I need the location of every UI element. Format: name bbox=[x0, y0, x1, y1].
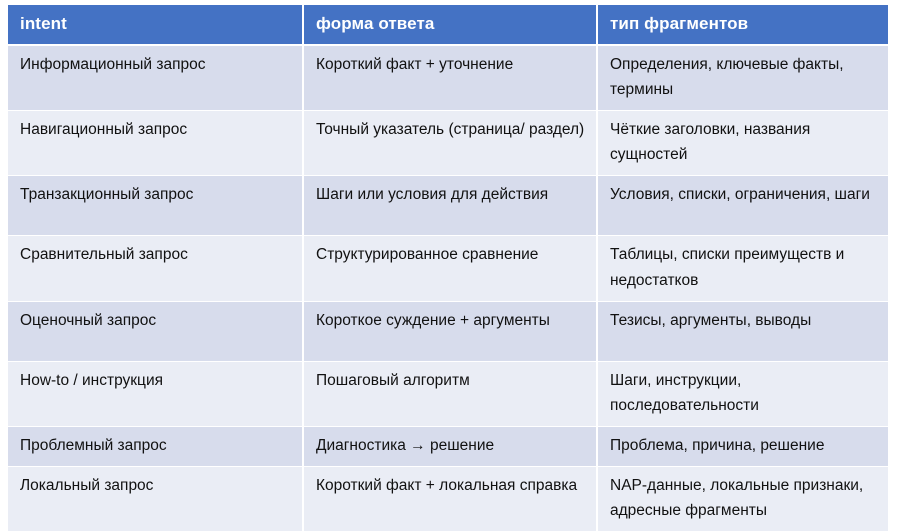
cell-answer-form: Шаги или условия для действия bbox=[303, 176, 597, 236]
table-row: Оценочный запрос Короткое суждение + арг… bbox=[8, 301, 888, 361]
table-row: How-to / инструкция Пошаговый алгоритм Ш… bbox=[8, 361, 888, 426]
cell-answer-form: Точный указатель (страница/ раздел) bbox=[303, 111, 597, 176]
cell-answer-form: Короткий факт + локальная справка bbox=[303, 466, 597, 531]
cell-answer-form: Короткое суждение + аргументы bbox=[303, 301, 597, 361]
cell-intent: Навигационный запрос bbox=[8, 111, 303, 176]
cell-fragment-type: Тезисы, аргументы, выводы bbox=[597, 301, 888, 361]
table-row: Информационный запрос Короткий факт + ут… bbox=[8, 45, 888, 111]
cell-intent: Оценочный запрос bbox=[8, 301, 303, 361]
column-header-answer-form: форма ответа bbox=[303, 5, 597, 45]
intent-mapping-table: intent форма ответа тип фрагментов Инфор… bbox=[8, 5, 888, 532]
table-row: Транзакционный запрос Шаги или условия д… bbox=[8, 176, 888, 236]
table-row: Сравнительный запрос Структурированное с… bbox=[8, 236, 888, 301]
table-row: Локальный запрос Короткий факт + локальн… bbox=[8, 466, 888, 531]
column-header-fragment-type: тип фрагментов bbox=[597, 5, 888, 45]
table-row: Навигационный запрос Точный указатель (с… bbox=[8, 111, 888, 176]
cell-intent: Локальный запрос bbox=[8, 466, 303, 531]
cell-fragment-type: Чёткие заголовки, названия сущностей bbox=[597, 111, 888, 176]
cell-fragment-type: Определения, ключевые факты, термины bbox=[597, 45, 888, 111]
cell-fragment-type: Таблицы, списки преимуществ и недостатко… bbox=[597, 236, 888, 301]
header-row: intent форма ответа тип фрагментов bbox=[8, 5, 888, 45]
cell-answer-form: Пошаговый алгоритм bbox=[303, 361, 597, 426]
cell-intent: Проблемный запрос bbox=[8, 426, 303, 466]
table-row: Проблемный запрос Диагностика → решение … bbox=[8, 426, 888, 466]
cell-answer-form: Структурированное сравнение bbox=[303, 236, 597, 301]
table-body: Информационный запрос Короткий факт + ут… bbox=[8, 45, 888, 532]
cell-intent: Информационный запрос bbox=[8, 45, 303, 111]
cell-intent: Сравнительный запрос bbox=[8, 236, 303, 301]
cell-intent: How-to / инструкция bbox=[8, 361, 303, 426]
intent-table-container: intent форма ответа тип фрагментов Инфор… bbox=[8, 5, 888, 463]
column-header-intent: intent bbox=[8, 5, 303, 45]
cell-fragment-type: Проблема, причина, решение bbox=[597, 426, 888, 466]
table-header: intent форма ответа тип фрагментов bbox=[8, 5, 888, 45]
cell-fragment-type: Условия, списки, ограничения, шаги bbox=[597, 176, 888, 236]
cell-fragment-type: NAP-данные, локальные признаки, адресные… bbox=[597, 466, 888, 531]
cell-intent: Транзакционный запрос bbox=[8, 176, 303, 236]
cell-answer-form: Диагностика → решение bbox=[303, 426, 597, 466]
cell-fragment-type: Шаги, инструкции, последовательности bbox=[597, 361, 888, 426]
cell-answer-form: Короткий факт + уточнение bbox=[303, 45, 597, 111]
